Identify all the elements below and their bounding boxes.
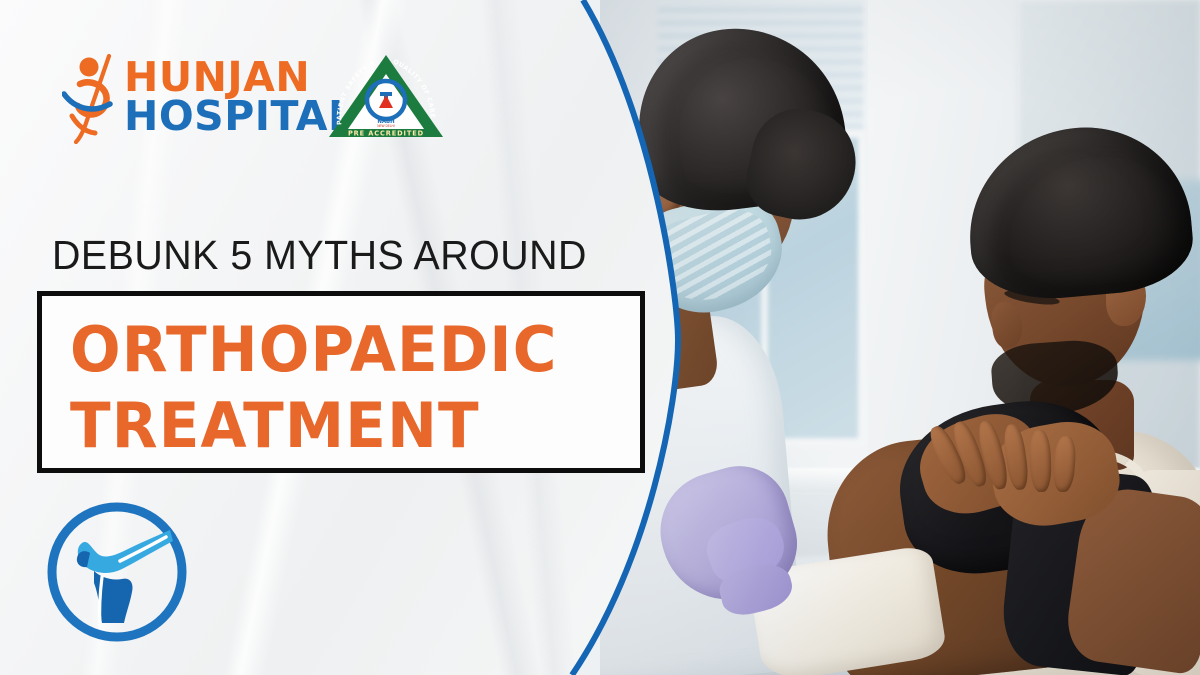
promotional-banner: HUNJAN HOSPITAL NABH NEW DELHI PATIENT S… (0, 0, 1200, 675)
knee-joint-icon (42, 497, 192, 647)
running-figure-logo-mark (62, 54, 124, 144)
nabh-pre-accredited-badge: NABH NEW DELHI PATIENT SAFETY & QUALITY … (326, 52, 446, 140)
headline-kicker: DEBUNK 5 MYTHS AROUND (52, 232, 587, 279)
nabh-subtext: NEW DELHI (377, 124, 395, 128)
logo-line-2: HOSPITAL (124, 96, 355, 137)
clinic-knee-examination-photo (600, 0, 1200, 675)
headline-title-line-1: ORTHOPAEDIC (70, 312, 608, 388)
photo-vignette (600, 0, 1200, 675)
logo-wordmark: HUNJAN HOSPITAL (124, 52, 354, 148)
headline-title-line-2: TREATMENT (70, 388, 608, 464)
headline-title-box: ORTHOPAEDIC TREATMENT (37, 291, 645, 473)
badge-footer-text: PRE ACCREDITED (348, 130, 424, 138)
